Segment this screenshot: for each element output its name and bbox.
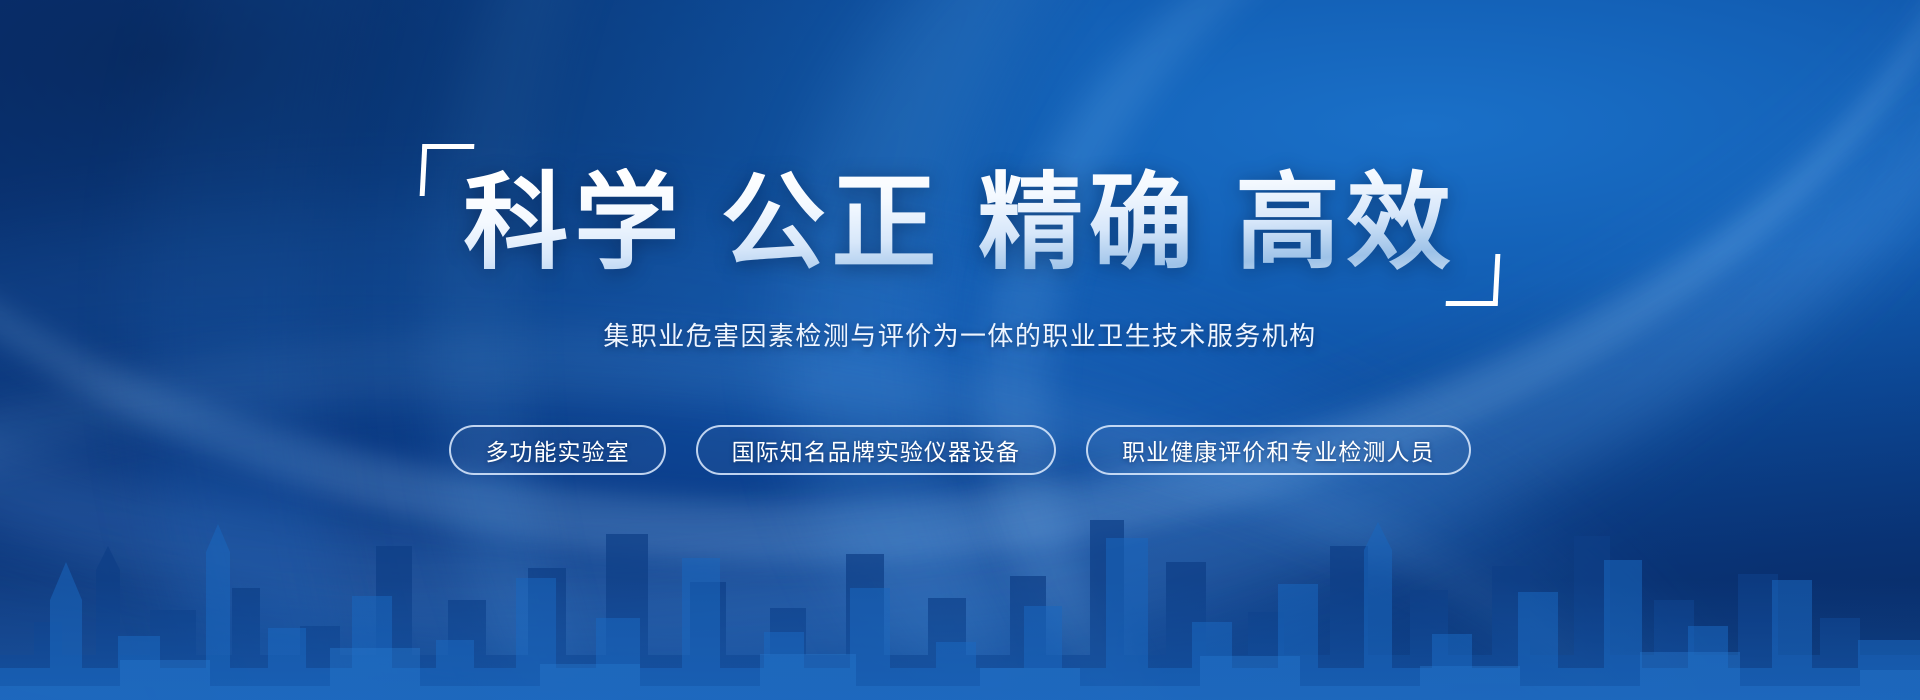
feature-pill-equipment-label: 国际知名品牌实验仪器设备 (732, 433, 1020, 467)
feature-pill-lab-label: 多功能实验室 (485, 433, 629, 467)
headline-word-3: 精确 (978, 165, 1200, 282)
page-title: 科学公正精确高效 (463, 168, 1456, 280)
headline-word-4: 高效 (1235, 165, 1457, 282)
feature-pill-group: 多功能实验室 国际知名品牌实验仪器设备 职业健康评价和专业检测人员 (449, 425, 1470, 475)
headline-block: 科学公正精确高效 (429, 168, 1490, 280)
feature-pill-staff-label: 职业健康评价和专业检测人员 (1122, 433, 1434, 467)
feature-pill-staff[interactable]: 职业健康评价和专业检测人员 (1086, 425, 1470, 475)
headline-word-1: 科学 (463, 165, 685, 282)
feature-pill-equipment[interactable]: 国际知名品牌实验仪器设备 (696, 425, 1056, 475)
headline-word-2: 公正 (721, 165, 943, 282)
hero-banner: 科学公正精确高效 集职业危害因素检测与评价为一体的职业卫生技术服务机构 多功能实… (0, 0, 1920, 700)
banner-content: 科学公正精确高效 集职业危害因素检测与评价为一体的职业卫生技术服务机构 多功能实… (0, 0, 1920, 700)
banner-subtitle: 集职业危害因素检测与评价为一体的职业卫生技术服务机构 (603, 316, 1316, 353)
feature-pill-lab[interactable]: 多功能实验室 (449, 425, 665, 475)
